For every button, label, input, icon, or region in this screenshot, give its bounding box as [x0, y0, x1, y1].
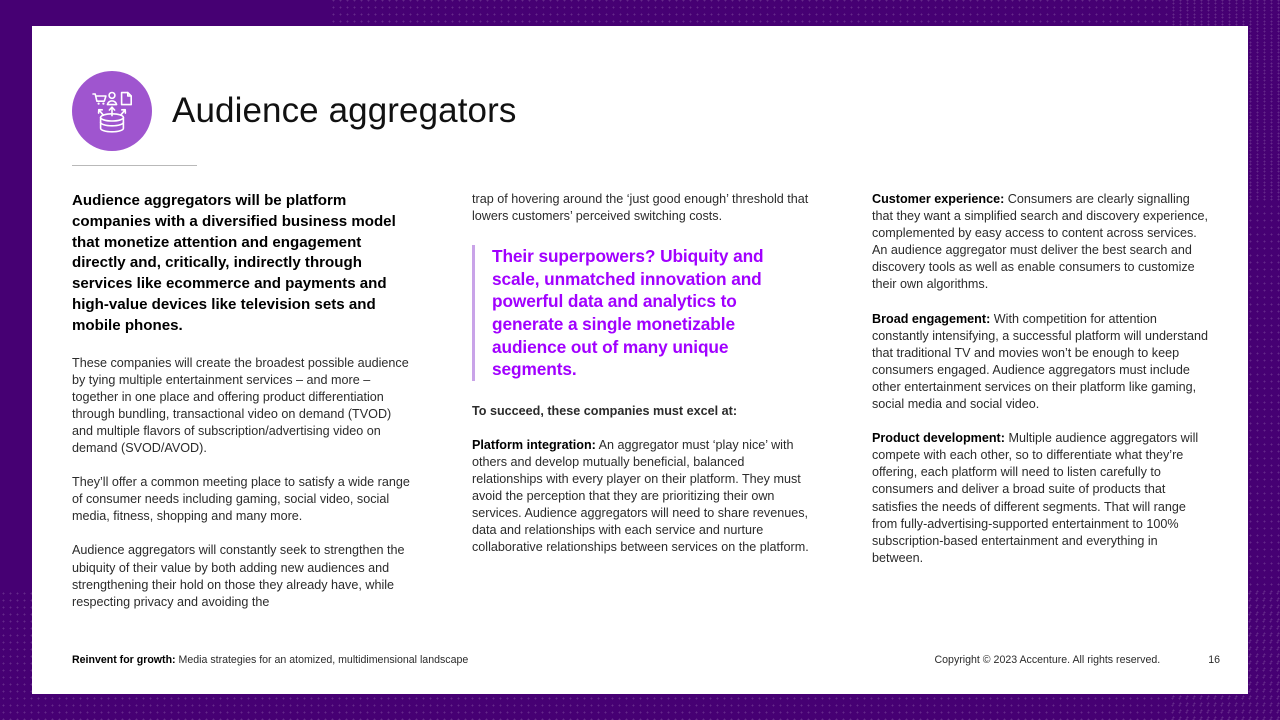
body-paragraph: Platform integration: An aggregator must… — [472, 437, 812, 557]
run-in-heading: Broad engagement: — [872, 312, 990, 326]
run-in-heading: Customer experience: — [872, 192, 1004, 206]
content-columns: Audience aggregators will be platform co… — [72, 191, 1212, 631]
body-paragraph: Broad engagement: With competition for a… — [872, 311, 1212, 414]
run-in-body: Consumers are clearly signalling that th… — [872, 192, 1208, 291]
footer-title-bold: Reinvent for growth: — [72, 654, 176, 666]
footer-title-rest: Media strategies for an atomized, multid… — [176, 654, 469, 666]
body-paragraph: These companies will create the broadest… — [72, 355, 412, 458]
run-in-body: An aggregator must ‘play nice’ with othe… — [472, 438, 809, 555]
run-in-body: With competition for attention constantl… — [872, 312, 1208, 411]
column-3: Customer experience: Consumers are clear… — [872, 191, 1212, 631]
body-paragraph: They’ll offer a common meeting place to … — [72, 474, 412, 525]
slide-card: Audience aggregators Audience aggregator… — [32, 26, 1248, 694]
run-in-body: Multiple audience aggregators will compe… — [872, 431, 1198, 565]
title-divider — [72, 165, 197, 166]
body-paragraph: Product development: Multiple audience a… — [872, 430, 1212, 567]
body-paragraph: Customer experience: Consumers are clear… — [872, 191, 1212, 294]
audience-data-aggregator-icon — [72, 71, 152, 151]
slide-footer: Reinvent for growth: Media strategies fo… — [72, 654, 1220, 666]
footer-right-group: Copyright © 2023 Accenture. All rights r… — [935, 654, 1220, 666]
column-1: Audience aggregators will be platform co… — [72, 191, 412, 631]
body-paragraph: Audience aggregators will constantly see… — [72, 542, 412, 610]
footer-document-title: Reinvent for growth: Media strategies fo… — [72, 654, 468, 666]
copyright-notice: Copyright © 2023 Accenture. All rights r… — [935, 654, 1161, 666]
section-subheading: To succeed, these companies must excel a… — [472, 403, 812, 420]
pull-quote: Their superpowers? Ubiquity and scale, u… — [472, 245, 812, 381]
page-title: Audience aggregators — [172, 91, 516, 131]
run-in-heading: Product development: — [872, 431, 1005, 445]
page-number: 16 — [1208, 654, 1220, 666]
column-2: trap of hovering around the ‘just good e… — [472, 191, 812, 631]
lead-paragraph: Audience aggregators will be platform co… — [72, 191, 412, 337]
pull-quote-text: Their superpowers? Ubiquity and scale, u… — [492, 245, 812, 381]
body-paragraph: trap of hovering around the ‘just good e… — [472, 191, 812, 225]
slide-header: Audience aggregators — [72, 71, 516, 151]
run-in-heading: Platform integration: — [472, 438, 596, 452]
